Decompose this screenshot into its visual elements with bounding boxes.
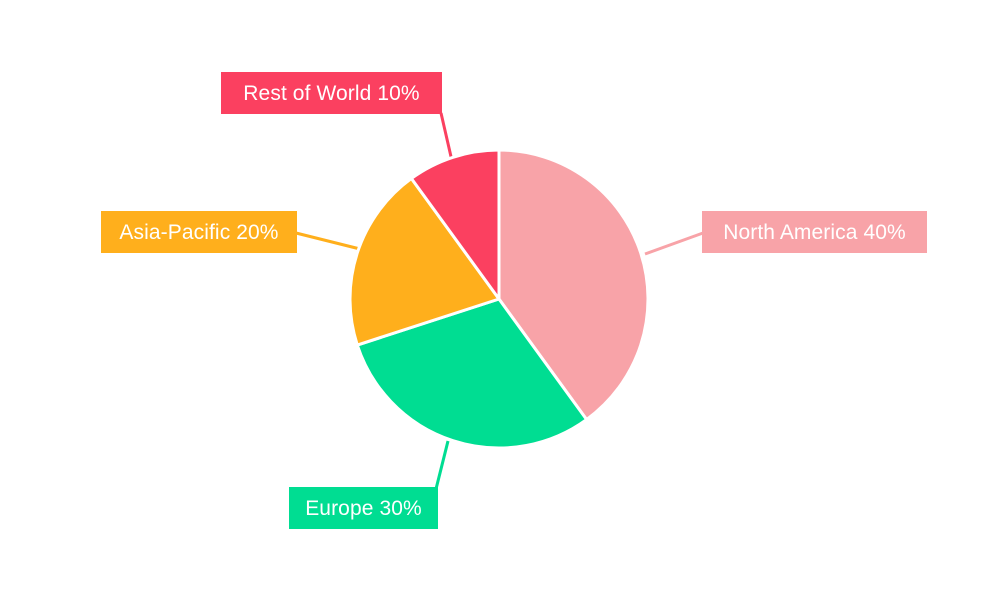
pie-label-europe[interactable]: Europe 30% xyxy=(289,487,438,529)
leader-line-asia-pacific xyxy=(296,233,360,249)
pie-chart-canvas xyxy=(0,0,1000,600)
leader-line-rest-of-world xyxy=(441,113,452,161)
pie-label-north-america[interactable]: North America 40% xyxy=(702,211,927,253)
leader-line-europe xyxy=(436,441,448,489)
pie-chart-figure: North America 40%Europe 30%Asia-Pacific … xyxy=(0,0,1000,600)
pie-label-asia-pacific[interactable]: Asia-Pacific 20% xyxy=(101,211,297,253)
leader-line-north-america xyxy=(645,233,703,254)
pie-slice-group xyxy=(350,150,648,448)
pie-label-rest-of-world[interactable]: Rest of World 10% xyxy=(221,72,442,114)
